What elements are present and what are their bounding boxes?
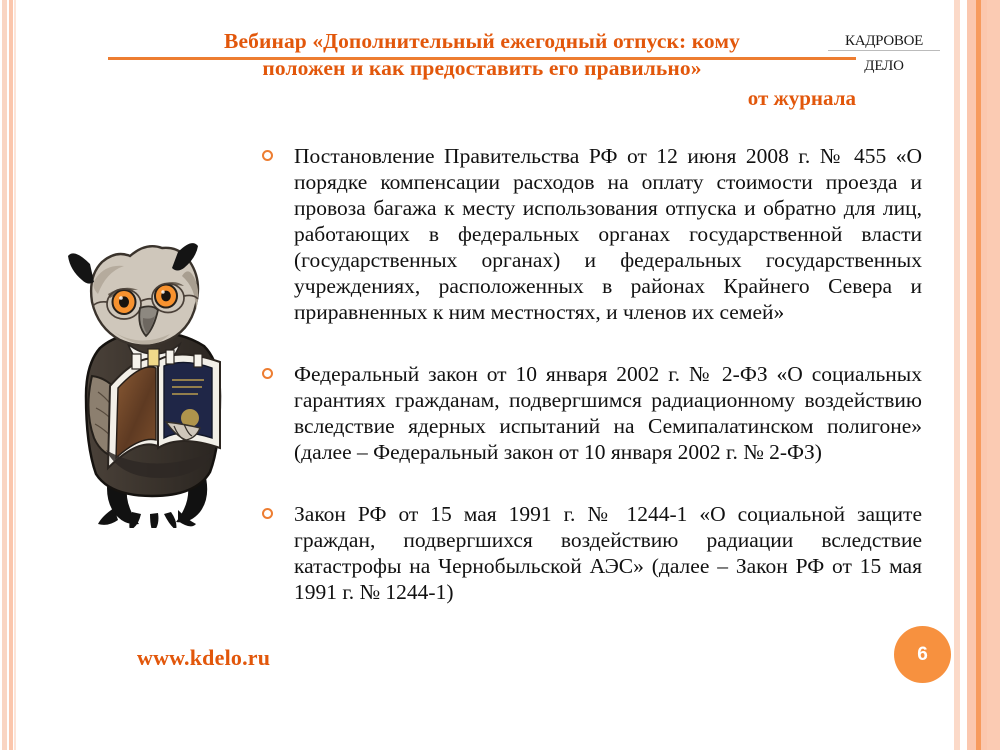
left-stripe-1 [2,0,7,750]
title-line-1: Вебинар «Дополнительный ежегодный отпуск… [108,28,856,55]
list-item-text: Федеральный закон от 10 января 2002 г. №… [294,361,922,465]
bullet-ring-icon [262,150,273,161]
slide-canvas: Вебинар «Дополнительный ежегодный отпуск… [0,0,1000,750]
left-stripe-2 [9,0,13,750]
right-stripe-3 [967,0,976,750]
list-item-text: Постановление Правительства РФ от 12 июн… [294,143,922,325]
page-number-badge: 6 [894,626,951,683]
list-item: Постановление Правительства РФ от 12 июн… [262,143,922,325]
brand-logo-line-1: Кадровое [826,27,942,49]
right-stripe-5 [981,0,987,750]
owl-reading-book-icon [54,236,252,528]
site-url-link[interactable]: www.kdelo.ru [137,645,270,671]
owl-illustration [54,236,252,528]
title-underline-rule [108,57,856,60]
bullet-list: Постановление Правительства РФ от 12 июн… [262,143,922,635]
list-item-text: Закон РФ от 15 мая 1991 г. № 1244-1 «О с… [294,501,922,605]
list-item: Закон РФ от 15 мая 1991 г. № 1244-1 «О с… [262,501,922,605]
right-stripe-2 [962,0,967,750]
owl-ear-tuft-left [68,253,94,283]
list-item: Федеральный закон от 10 января 2002 г. №… [262,361,922,465]
right-stripe-4 [976,0,981,750]
title-subtitle: от журнала [108,85,856,111]
left-stripe-3 [14,0,16,750]
left-edge-stripes [0,0,22,750]
right-edge-stripes [952,0,1000,750]
right-stripe-6 [987,0,1000,750]
bullet-ring-icon [262,508,273,519]
bullet-ring-icon [262,368,273,379]
brand-logo-line-2: Дело [826,52,942,74]
slide-title: Вебинар «Дополнительный ежегодный отпуск… [108,28,856,82]
brand-logo: Кадровое Дело [826,27,942,74]
right-stripe-1 [954,0,960,750]
